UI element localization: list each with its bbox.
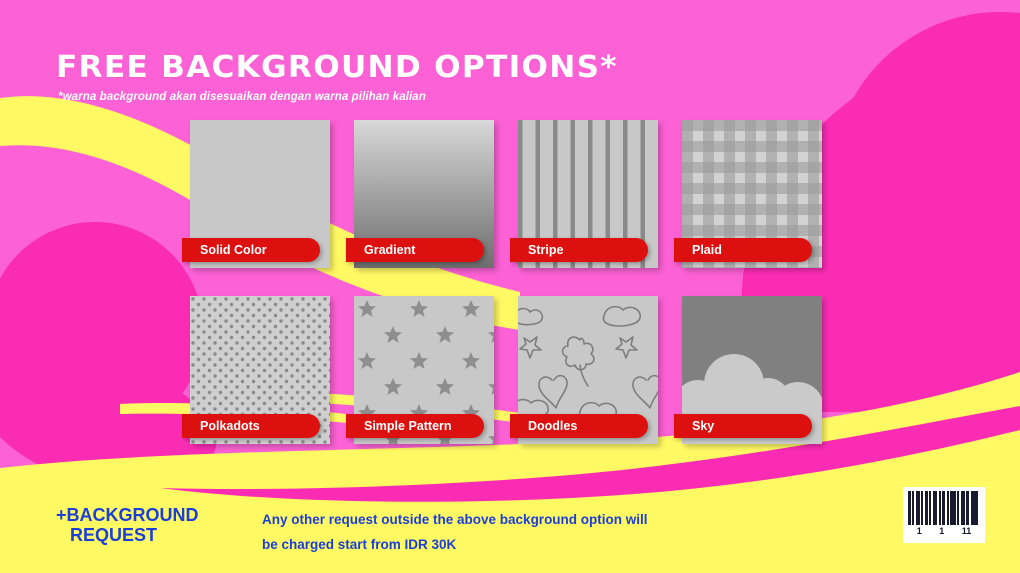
option-label-polkadots: Polkadots — [200, 419, 260, 433]
option-banner-solid-color: Solid Color — [182, 238, 320, 262]
header: FREE BACKGROUND OPTIONS* *warna backgrou… — [56, 52, 676, 103]
option-label-simple-pattern: Simple Pattern — [364, 419, 452, 433]
footer-heading-line2: REQUEST — [56, 525, 256, 545]
footer-heading-line1: +BACKGROUND — [56, 505, 199, 525]
option-label-plaid: Plaid — [692, 243, 722, 257]
footer-note: Any other request outside the above back… — [262, 508, 782, 558]
option-card-doodles[interactable]: Doodles — [518, 296, 658, 444]
option-banner-plaid: Plaid — [674, 238, 812, 262]
option-card-stripe[interactable]: Stripe — [518, 120, 658, 268]
option-banner-gradient: Gradient — [346, 238, 484, 262]
option-banner-sky: Sky — [674, 414, 812, 438]
option-card-polkadots[interactable]: Polkadots — [190, 296, 330, 444]
option-label-gradient: Gradient — [364, 243, 415, 257]
option-label-solid-color: Solid Color — [200, 243, 267, 257]
option-label-stripe: Stripe — [528, 243, 563, 257]
option-banner-simple-pattern: Simple Pattern — [346, 414, 484, 438]
option-label-doodles: Doodles — [528, 419, 577, 433]
option-card-solid-color[interactable]: Solid Color — [190, 120, 330, 268]
option-card-sky[interactable]: Sky — [682, 296, 822, 444]
option-label-sky: Sky — [692, 419, 714, 433]
background-options-grid: Solid Color Gradient — [190, 120, 838, 444]
options-row-2: Polkadots — [190, 296, 838, 444]
option-card-plaid[interactable]: Plaid — [682, 120, 822, 268]
options-row-1: Solid Color Gradient — [190, 120, 838, 268]
option-card-gradient[interactable]: Gradient — [354, 120, 494, 268]
barcode-bars — [908, 491, 980, 525]
option-banner-stripe: Stripe — [510, 238, 648, 262]
barcode: 1 1 11 — [903, 487, 985, 543]
page-title: FREE BACKGROUND OPTIONS* — [56, 52, 701, 84]
poster-canvas: FREE BACKGROUND OPTIONS* *warna backgrou… — [0, 0, 1020, 573]
barcode-digit-3: 11 — [962, 526, 972, 536]
option-card-simple-pattern[interactable]: Simple Pattern — [354, 296, 494, 444]
barcode-digits: 1 1 11 — [908, 526, 980, 536]
option-banner-doodles: Doodles — [510, 414, 648, 438]
barcode-digit-2: 1 — [939, 526, 944, 536]
option-banner-polkadots: Polkadots — [182, 414, 320, 438]
page-subtitle: *warna background akan disesuaikan denga… — [58, 91, 676, 103]
barcode-digit-1: 1 — [917, 526, 922, 536]
footer-note-line2: be charged start from IDR 30K — [262, 533, 782, 558]
footer-heading: +BACKGROUND REQUEST — [56, 505, 256, 545]
footer-note-line1: Any other request outside the above back… — [262, 508, 782, 533]
